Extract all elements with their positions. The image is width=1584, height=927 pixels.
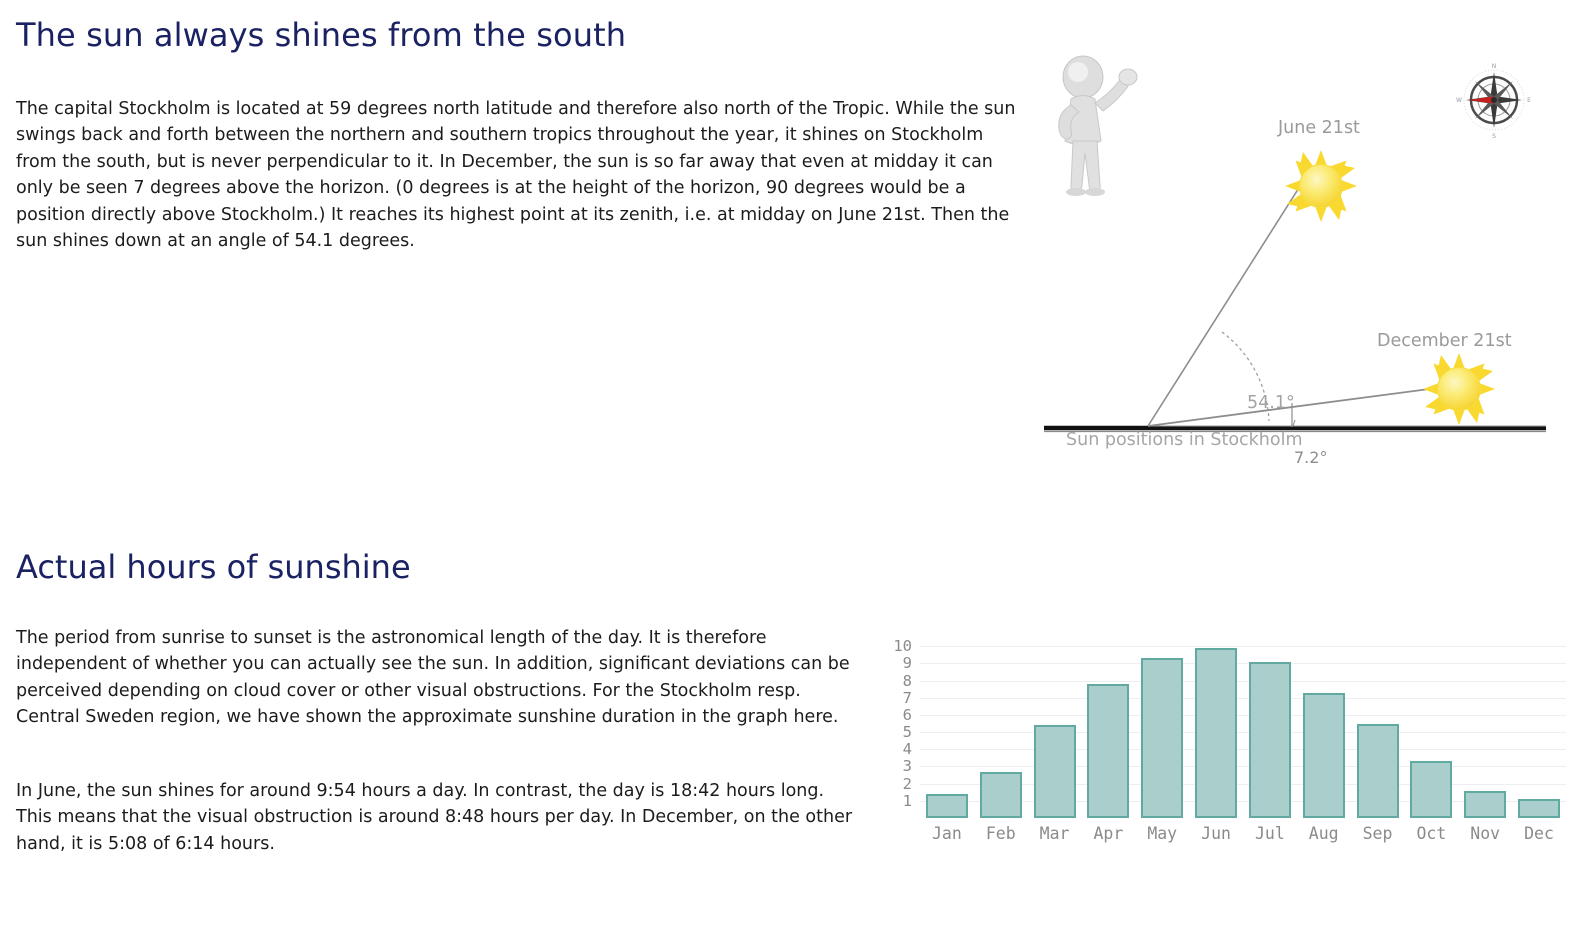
x-axis-label-may: May [1135,824,1189,843]
bar-cell [1243,636,1297,818]
december-sun-label: December 21st [1377,331,1512,351]
bar-mar[interactable] [1034,725,1076,818]
bar-cell [1458,636,1512,818]
x-axis-label-oct: Oct [1404,824,1458,843]
bar-aug[interactable] [1303,693,1345,818]
winter-sun-ray [1148,385,1460,426]
y-axis-tick: 3 [903,757,912,775]
sunshine-hours-section: Actual hours of sunshine The period from… [0,500,1584,927]
summer-sun-icon [1285,150,1357,222]
bar-cell [1028,636,1082,818]
y-axis-tick: 10 [893,637,912,655]
bar-apr[interactable] [1087,684,1129,818]
summer-angle-label: 54.1° [1247,393,1295,413]
x-axis-label-jun: Jun [1189,824,1243,843]
bar-dec[interactable] [1518,799,1560,818]
y-axis-tick: 9 [903,654,912,672]
bar-jul[interactable] [1249,662,1291,818]
x-axis-label-jan: Jan [920,824,974,843]
bar-sep[interactable] [1357,724,1399,818]
bar-cell [920,636,974,818]
y-axis-tick: 6 [903,706,912,724]
bar-cell [1512,636,1566,818]
bar-cell [974,636,1028,818]
june-sun-label: June 21st [1278,118,1360,138]
diagram-caption: Sun positions in Stockholm [1066,430,1303,450]
y-axis-tick: 8 [903,672,912,690]
svg-text:S: S [1492,133,1496,140]
x-axis-label-mar: Mar [1028,824,1082,843]
page-title: The sun always shines from the south [16,16,626,54]
x-axis-label-aug: Aug [1297,824,1351,843]
intro-paragraph: The capital Stockholm is located at 59 d… [16,96,1028,254]
x-axis-label-apr: Apr [1081,824,1135,843]
y-axis-tick: 5 [903,723,912,741]
winter-angle-arc [1293,420,1295,426]
sunshine-hours-bar-chart: 12345678910 JanFebMarAprMayJunJulAugSepO… [880,628,1570,856]
sunshine-paragraph-2: In June, the sun shines for around 9:54 … [16,778,858,857]
chart-bars [920,636,1566,818]
winter-angle-label: 7.2° [1294,448,1327,467]
sun-direction-section: The sun always shines from the south The… [0,0,1584,500]
svg-text:E: E [1527,97,1531,104]
bar-may[interactable] [1141,658,1183,818]
x-axis-label-nov: Nov [1458,824,1512,843]
y-axis-tick: 1 [903,792,912,810]
diagram-vector-layer: N S W E [1040,55,1584,465]
compass-rose-icon: N S W E [1456,63,1531,140]
x-axis-label-feb: Feb [974,824,1028,843]
sun-positions-diagram: N S W E [1040,55,1584,465]
bar-cell [1189,636,1243,818]
bar-feb[interactable] [980,772,1022,818]
bar-cell [1135,636,1189,818]
person-figure [1059,56,1137,196]
bar-cell [1404,636,1458,818]
y-axis-tick: 7 [903,689,912,707]
section-title: Actual hours of sunshine [16,548,411,586]
bar-cell [1351,636,1405,818]
bar-cell [1081,636,1135,818]
bar-cell [1297,636,1351,818]
bar-nov[interactable] [1464,791,1506,818]
x-axis-label-dec: Dec [1512,824,1566,843]
bar-oct[interactable] [1410,761,1452,818]
y-axis-tick: 2 [903,775,912,793]
summer-sun-ray [1148,183,1302,426]
bar-jan[interactable] [926,794,968,818]
y-axis-tick: 4 [903,740,912,758]
winter-sun-icon [1423,353,1495,425]
x-axis-label-sep: Sep [1351,824,1405,843]
chart-x-axis: JanFebMarAprMayJunJulAugSepOctNovDec [920,824,1566,843]
x-axis-label-jul: Jul [1243,824,1297,843]
sunshine-paragraph-1: The period from sunrise to sunset is the… [16,625,856,731]
svg-text:W: W [1456,97,1462,104]
svg-text:N: N [1492,63,1497,70]
chart-plot-area: 12345678910 [920,636,1566,818]
bar-jun[interactable] [1195,648,1237,818]
